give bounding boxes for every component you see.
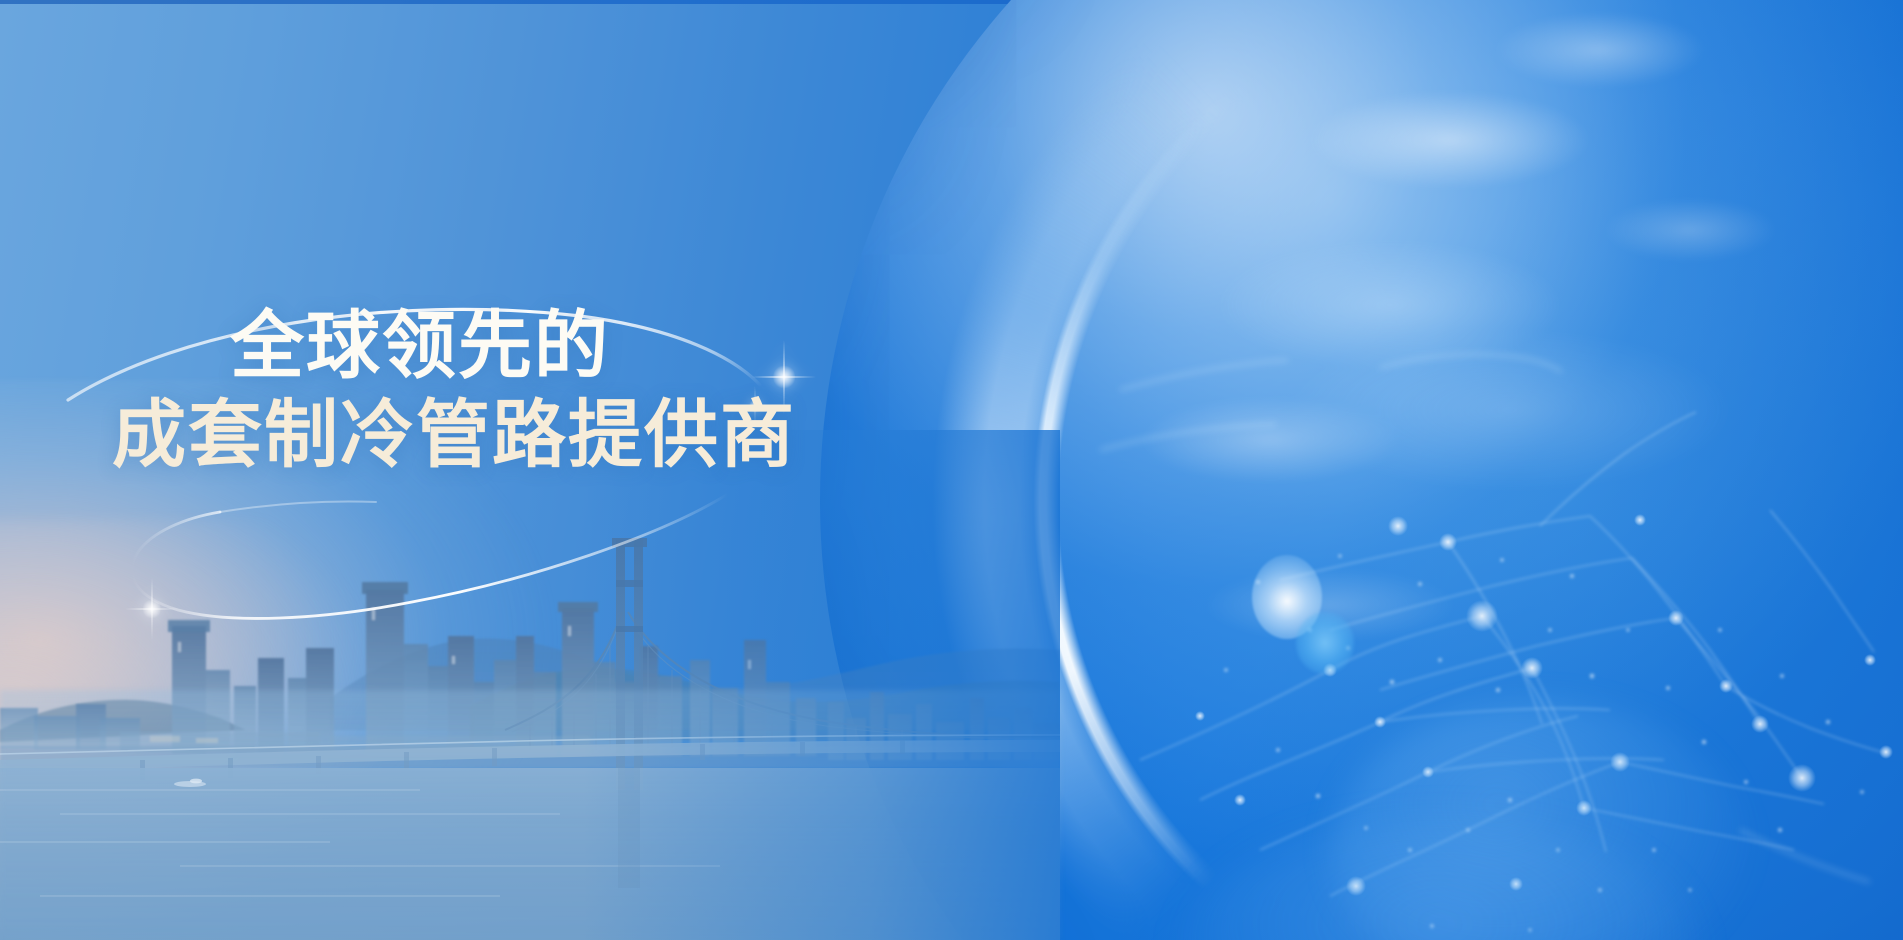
- headline-line-2: 成套制冷管路提供商: [112, 391, 872, 480]
- sea-water: [0, 768, 1060, 940]
- headline-line-1: 全球领先的: [112, 302, 872, 391]
- hero-banner: 全球领先的 成套制冷管路提供商: [0, 0, 1903, 940]
- top-edge-band: [0, 0, 1903, 4]
- hero-headline: 全球领先的 成套制冷管路提供商: [112, 302, 872, 480]
- city-landscape: [0, 430, 1060, 940]
